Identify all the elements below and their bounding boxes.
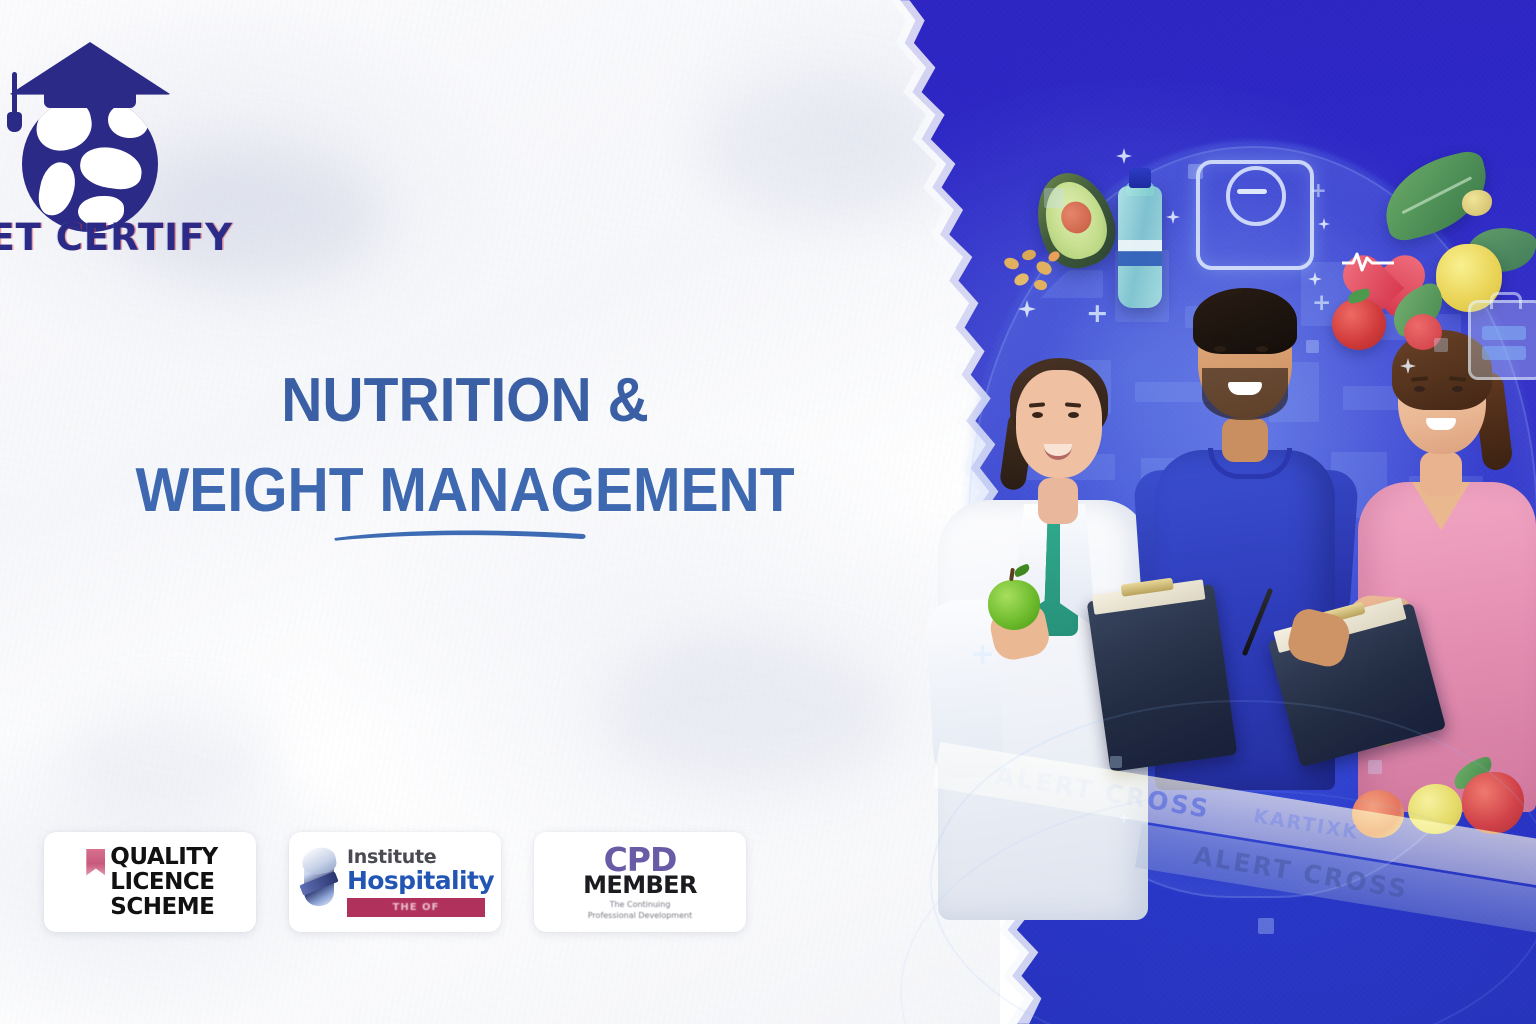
ioh-banner-text: THE OF: [393, 902, 440, 913]
promo-banner: GET CERTIFY NUTRITION & WEIGHT MANAGEMEN…: [0, 0, 1536, 1024]
plus-icon: +: [970, 640, 995, 670]
plus-icon: +: [1310, 180, 1327, 200]
face: [1016, 370, 1102, 478]
ioh-line-1: Institute: [347, 848, 494, 867]
plus-icon: +: [1086, 300, 1109, 327]
badge-cpd-member[interactable]: CPD MEMBER The Continuing Professional D…: [534, 832, 746, 932]
ioh-line-2: Hospitality: [347, 868, 494, 894]
graduation-cap-icon: [10, 42, 170, 94]
page-title: NUTRITION & WEIGHT MANAGEMENT: [70, 356, 860, 536]
bookmark-ribbon-icon: [86, 849, 105, 876]
globe-icon: [22, 96, 158, 232]
tassel-icon: [12, 72, 17, 116]
title-line-2: WEIGHT MANAGEMENT: [102, 446, 829, 536]
green-apple-icon: [988, 580, 1040, 630]
qls-line-2: LICENCE: [110, 870, 217, 895]
hair: [1193, 288, 1297, 354]
crest-emblem-icon: [296, 850, 342, 914]
ioh-banner: THE OF: [347, 898, 485, 917]
qls-line-3: SCHEME: [110, 895, 217, 920]
paper-smudge: [700, 80, 940, 220]
medical-bag-icon: [1468, 300, 1536, 380]
badge-institute-of-hospitality[interactable]: Institute Hospitality THE OF: [289, 832, 501, 932]
qls-line-1: QUALITY: [110, 845, 217, 870]
cpd-sub-2: Professional Development: [583, 911, 697, 920]
brand-logo[interactable]: GET CERTIFY: [0, 34, 202, 244]
ecg-line-icon: [1342, 250, 1394, 272]
paper-smudge: [600, 640, 900, 790]
title-line-1: NUTRITION &: [102, 356, 829, 446]
cpd-line-2: MEMBER: [583, 872, 697, 898]
seeds-icon: [1004, 248, 1064, 298]
cpd-sub-1: The Continuing: [583, 900, 697, 909]
accreditation-badges: QUALITY LICENCE SCHEME Institute Hospita…: [44, 832, 746, 932]
graduation-cap-band: [44, 92, 136, 108]
title-underline-swoosh: [333, 524, 591, 546]
badge-quality-licence-scheme[interactable]: QUALITY LICENCE SCHEME: [44, 832, 256, 932]
paper-smudge: [60, 700, 280, 820]
plus-icon: +: [1312, 292, 1331, 315]
brand-name: GET CERTIFY: [0, 216, 233, 259]
tassel-knot: [7, 112, 22, 132]
tomato-icon: [1332, 298, 1386, 350]
